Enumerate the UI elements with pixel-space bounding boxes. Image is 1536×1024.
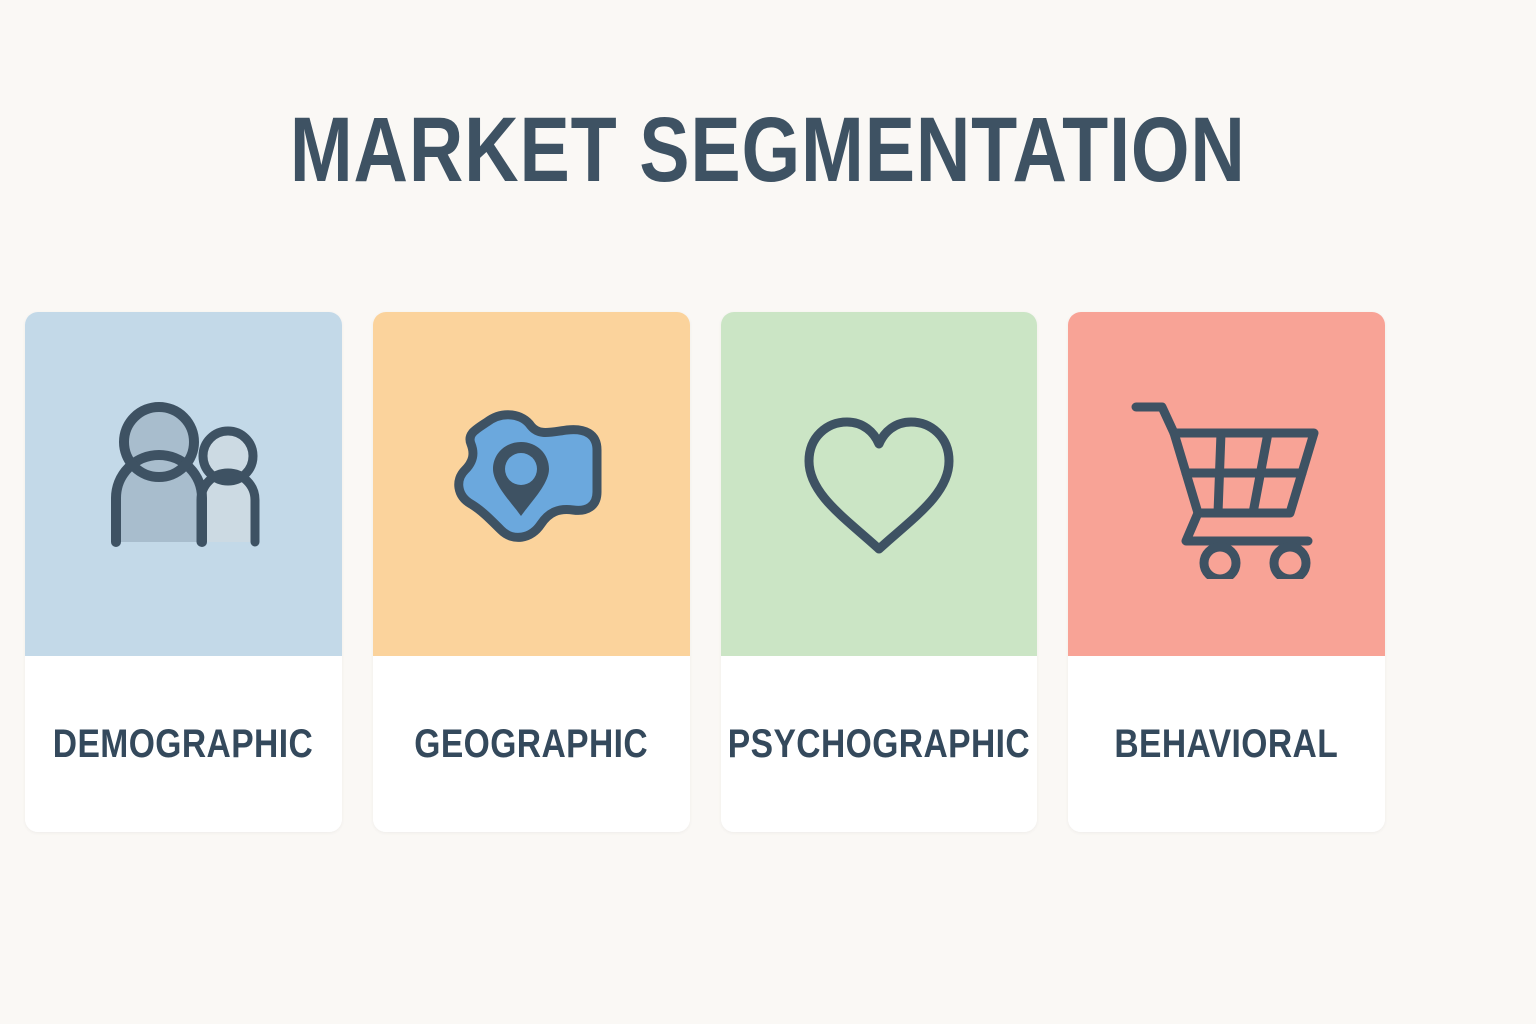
segment-card-geographic[interactable]: GEOGRAPHIC bbox=[373, 312, 690, 832]
segment-label-demographic: DEMOGRAPHIC bbox=[53, 724, 313, 764]
heart-icon bbox=[779, 384, 979, 584]
segment-card-behavioral[interactable]: BEHAVIORAL bbox=[1068, 312, 1385, 832]
people-icon bbox=[83, 384, 283, 584]
label-panel-psychographic: PSYCHOGRAPHIC bbox=[721, 656, 1038, 832]
icon-panel-geographic bbox=[373, 312, 690, 656]
icon-panel-behavioral bbox=[1068, 312, 1385, 656]
segment-card-row: DEMOGRAPHIC GEOGRAPHIC bbox=[25, 312, 1385, 832]
label-panel-demographic: DEMOGRAPHIC bbox=[25, 656, 342, 832]
label-panel-geographic: GEOGRAPHIC bbox=[373, 656, 690, 832]
segment-label-geographic: GEOGRAPHIC bbox=[414, 724, 648, 764]
segment-label-behavioral: BEHAVIORAL bbox=[1115, 724, 1339, 764]
icon-panel-demographic bbox=[25, 312, 342, 656]
label-panel-behavioral: BEHAVIORAL bbox=[1068, 656, 1385, 832]
shopping-cart-icon bbox=[1122, 389, 1332, 579]
map-location-icon bbox=[431, 384, 631, 584]
icon-panel-psychographic bbox=[721, 312, 1038, 656]
page-title: MARKET SEGMENTATION bbox=[290, 104, 1246, 196]
segment-card-psychographic[interactable]: PSYCHOGRAPHIC bbox=[721, 312, 1038, 832]
title-container: MARKET SEGMENTATION bbox=[0, 104, 1536, 196]
segment-label-psychographic: PSYCHOGRAPHIC bbox=[728, 724, 1030, 764]
segment-card-demographic[interactable]: DEMOGRAPHIC bbox=[25, 312, 342, 832]
